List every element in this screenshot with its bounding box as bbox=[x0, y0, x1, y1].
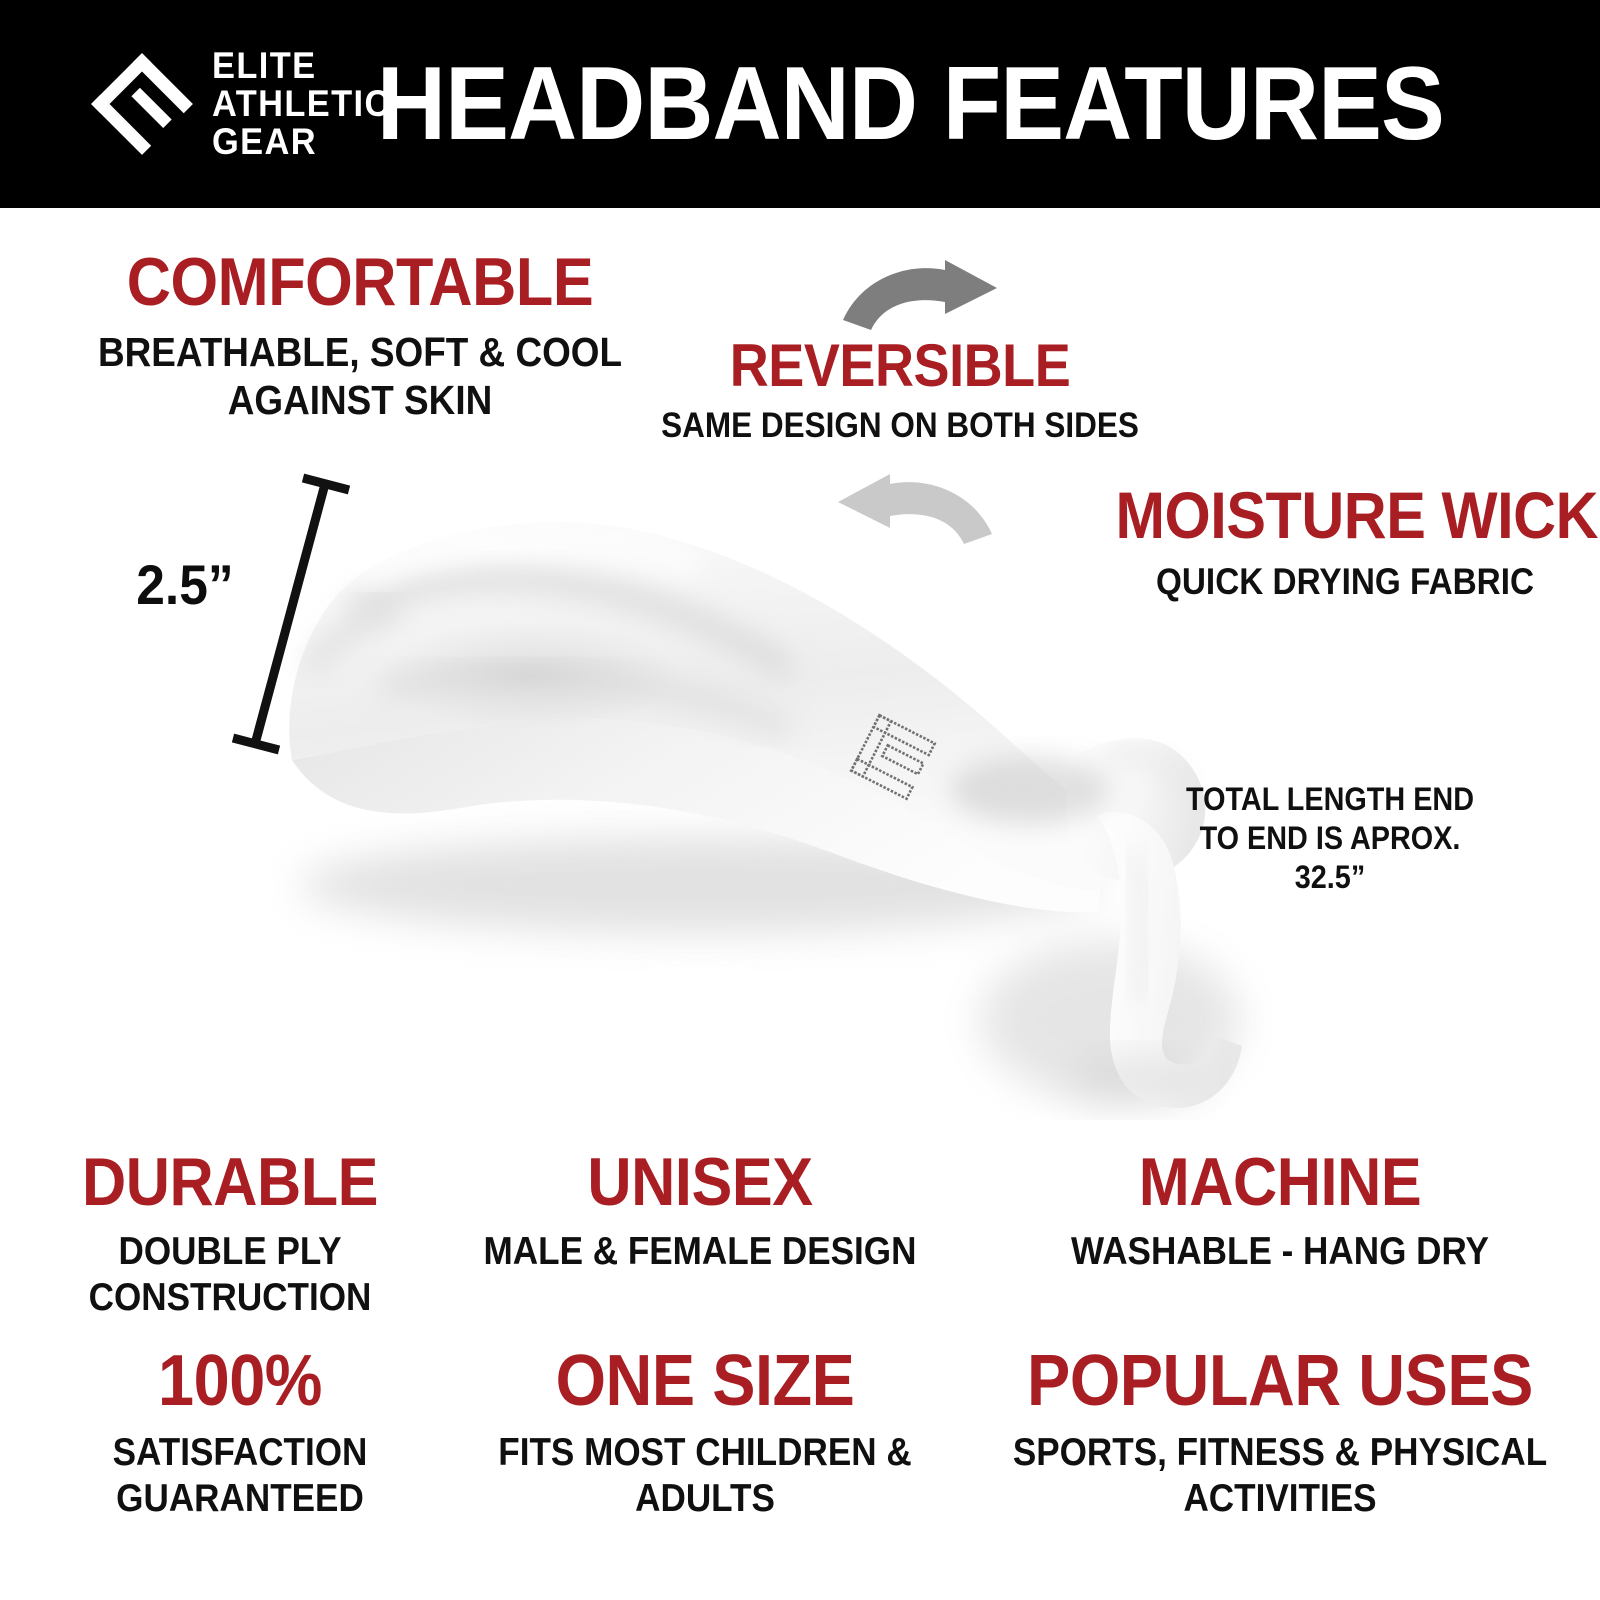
feature-durable-desc: DOUBLE PLY CONSTRUCTION bbox=[41, 1229, 419, 1319]
feature-popular-uses-desc: SPORTS, FITNESS & PHYSICAL ACTIVITIES bbox=[992, 1430, 1568, 1520]
feature-one-size: ONE SIZE FITS MOST CHILDREN & ADULTS bbox=[440, 1345, 970, 1521]
header-bar: ELITE ATHLETIC GEAR HEADBAND FEATURES bbox=[0, 0, 1600, 208]
feature-popular-uses-title: POPULAR USES bbox=[992, 1345, 1568, 1418]
feature-unisex: UNISEX MALE & FEMALE DESIGN bbox=[430, 1148, 970, 1275]
feature-unisex-title: UNISEX bbox=[457, 1148, 943, 1217]
feature-satisfaction: 100% SATISFACTION GUARANTEED bbox=[30, 1345, 450, 1521]
white-tie-headband-photo bbox=[230, 460, 1290, 1120]
feature-comfortable-title: COMFORTABLE bbox=[72, 248, 648, 317]
dimension-line-icon bbox=[225, 470, 355, 760]
feature-popular-uses: POPULAR USES SPORTS, FITNESS & PHYSICAL … bbox=[960, 1345, 1600, 1521]
feature-satisfaction-title: 100% bbox=[51, 1345, 429, 1418]
total-length-note: TOTAL LENGTH END TO END IS APROX. 32.5” bbox=[1186, 780, 1474, 897]
feature-comfortable: COMFORTABLE BREATHABLE, SOFT & COOL AGAI… bbox=[40, 248, 680, 424]
infographic-page: ELITE ATHLETIC GEAR HEADBAND FEATURES CO… bbox=[0, 0, 1600, 1600]
feature-satisfaction-desc: SATISFACTION GUARANTEED bbox=[51, 1430, 429, 1520]
feature-machine: MACHINE WASHABLE - HANG DRY bbox=[980, 1148, 1580, 1275]
feature-one-size-title: ONE SIZE bbox=[467, 1345, 944, 1418]
feature-one-size-desc: FITS MOST CHILDREN & ADULTS bbox=[467, 1430, 944, 1520]
feature-machine-desc: WASHABLE - HANG DRY bbox=[1010, 1229, 1550, 1274]
feature-comfortable-desc: BREATHABLE, SOFT & COOL AGAINST SKIN bbox=[72, 329, 648, 424]
feature-unisex-desc: MALE & FEMALE DESIGN bbox=[457, 1229, 943, 1274]
dimension-width-label: 2.5” bbox=[136, 552, 233, 617]
feature-reversible-desc: SAME DESIGN ON BOTH SIDES bbox=[648, 406, 1152, 447]
feature-machine-title: MACHINE bbox=[1010, 1148, 1550, 1217]
curved-arrow-right-icon bbox=[835, 258, 1005, 330]
feature-reversible: REVERSIBLE SAME DESIGN ON BOTH SIDES bbox=[620, 335, 1180, 447]
feature-durable: DURABLE DOUBLE PLY CONSTRUCTION bbox=[20, 1148, 440, 1320]
feature-reversible-title: REVERSIBLE bbox=[648, 335, 1152, 396]
feature-durable-title: DURABLE bbox=[41, 1148, 419, 1217]
page-title: HEADBAND FEATURES bbox=[64, 0, 1536, 208]
